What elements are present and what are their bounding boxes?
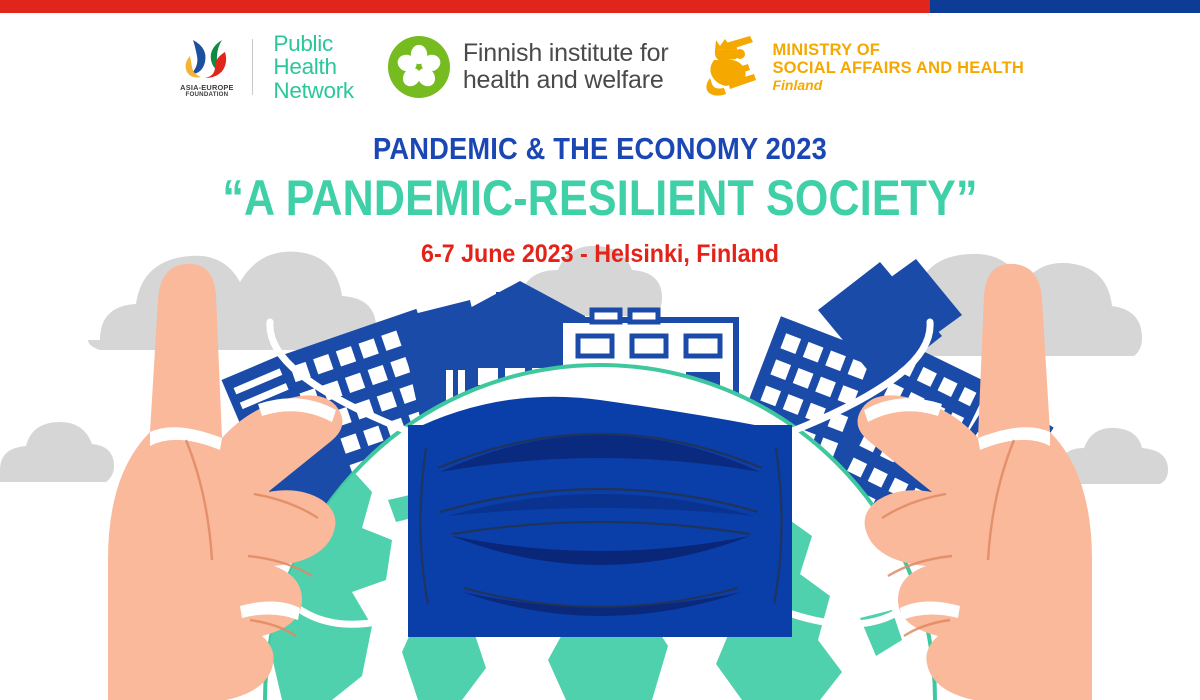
partner-logo-row: ASIA-EUROPE FOUNDATION Public Health Net… (0, 28, 1200, 106)
thl-word-line1: Finnish institute for (463, 40, 669, 67)
event-dateline: 6-7 June 2023 - Helsinki, Finland (42, 240, 1158, 269)
event-kicker: PANDEMIC & THE ECONOMY 2023 (72, 132, 1128, 167)
finland-lion-crest-icon (702, 34, 762, 100)
ministry-word-line3: Finland (772, 78, 1024, 93)
ministry-word-line2: SOCIAL AFFAIRS AND HEALTH (772, 59, 1024, 77)
headings-block: PANDEMIC & THE ECONOMY 2023 “A PANDEMIC-… (0, 132, 1200, 268)
asef-wordmark: Public Health Network (273, 32, 353, 102)
face-mask (408, 397, 792, 637)
thl-word-line2: health and welfare (463, 67, 669, 94)
logo-ministry-social-affairs-health[interactable]: MINISTRY OF SOCIAL AFFAIRS AND HEALTH Fi… (702, 34, 1024, 100)
asef-word-line3: Network (273, 79, 353, 102)
asef-word-line1: Public (273, 32, 353, 55)
asef-emblem-icon: ASIA-EUROPE FOUNDATION (176, 36, 238, 98)
logo-finnish-institute-health-welfare[interactable]: Finnish institute for health and welfare (388, 36, 669, 98)
asef-foundation-text: ASIA-EUROPE FOUNDATION (180, 84, 234, 98)
thl-wordmark: Finnish institute for health and welfare (463, 40, 669, 94)
asef-word-line2: Health (273, 55, 353, 78)
ministry-wordmark: MINISTRY OF SOCIAL AFFAIRS AND HEALTH Fi… (772, 41, 1024, 94)
logo-asef-public-health-network[interactable]: ASIA-EUROPE FOUNDATION Public Health Net… (176, 32, 354, 102)
event-title: “A PANDEMIC-RESILIENT SOCIETY” (84, 171, 1116, 226)
asef-foundation-line2: FOUNDATION (180, 92, 234, 99)
event-banner: ASIA-EUROPE FOUNDATION Public Health Net… (0, 0, 1200, 700)
asef-divider (252, 39, 254, 95)
ministry-word-line1: MINISTRY OF (772, 41, 1024, 59)
thl-flower-icon (388, 36, 450, 98)
